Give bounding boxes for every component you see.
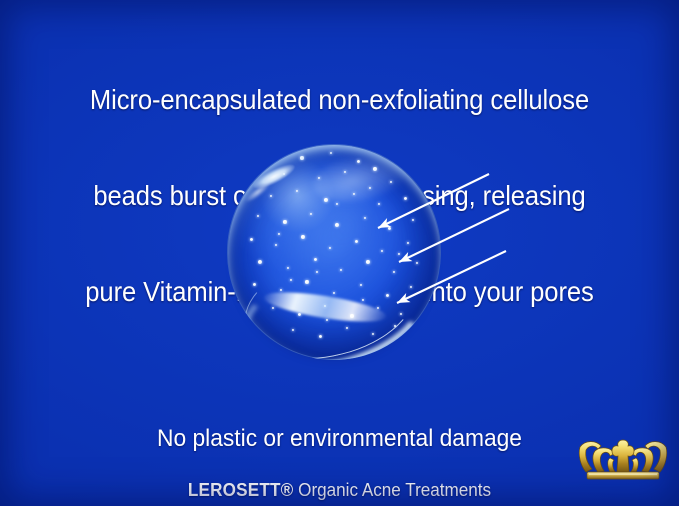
brand-line: LEROSETT® Organic Acne Treatments [17,479,662,501]
gel-bead-sphere [227,144,441,360]
sphere-outline [227,144,441,360]
infographic-canvas: Micro-encapsulated non-exfoliating cellu… [0,0,679,506]
crown-logo-icon [577,438,669,484]
brand-descriptor: Organic Acne Treatments [293,480,491,500]
tagline: No plastic or environmental damage [17,425,662,453]
headline-line-1: Micro-encapsulated non-exfoliating cellu… [24,84,655,116]
brand-name: LEROSETT® [188,480,294,500]
